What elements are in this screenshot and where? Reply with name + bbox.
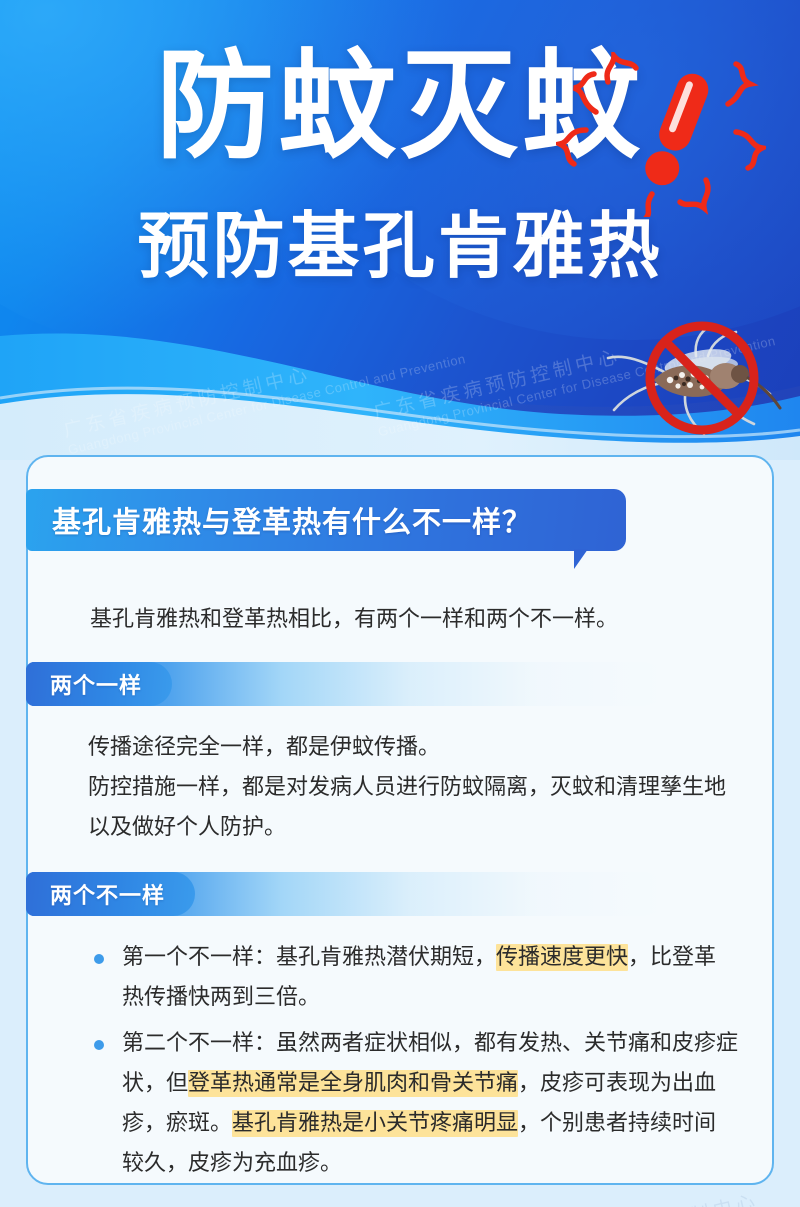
section-differences-pillbar: 两个不一样 — [26, 872, 666, 916]
section-similarities: 两个一样 传播途径完全一样，都是伊蚊传播。 防控措施一样，都是对发病人员进行防蚊… — [26, 662, 774, 848]
section-differences: 两个不一样 第一个不一样：基孔肯雅热潜伏期短，传播速度更快，比登革热传播快两到三… — [26, 872, 774, 1190]
content-card: 基孔肯雅热与登革热有什么不一样？ 基孔肯雅热和登革热相比，有两个一样和两个不一样… — [26, 455, 774, 1185]
highlighted-phrase: 基孔肯雅热是小关节疼痛明显 — [232, 1110, 518, 1137]
difference-item: 第二个不一样：虽然两者症状相似，都有发热、关节痛和皮疹症状，但登革热通常是全身肌… — [88, 1024, 738, 1184]
difference-list: 第一个不一样：基孔肯雅热潜伏期短，传播速度更快，比登革热传播快两到三倍。第二个不… — [88, 938, 738, 1184]
mosquito-prohibited-icon — [590, 312, 790, 452]
section-differences-body: 第一个不一样：基孔肯雅热潜伏期短，传播速度更快，比登革热传播快两到三倍。第二个不… — [26, 938, 774, 1184]
body-phrase: 第一个不一样：基孔肯雅热潜伏期短， — [122, 945, 496, 970]
similarity-paragraph: 防控措施一样，都是对发病人员进行防蚊隔离，灭蚊和清理孳生地以及做好个人防护。 — [88, 768, 738, 848]
section-differences-pill: 两个不一样 — [26, 872, 195, 916]
section-similarities-body: 传播途径完全一样，都是伊蚊传播。 防控措施一样，都是对发病人员进行防蚊隔离，灭蚊… — [26, 728, 774, 848]
card-intro-text: 基孔肯雅热和登革热相比，有两个一样和两个不一样。 — [90, 601, 730, 640]
section-similarities-pill: 两个一样 — [26, 662, 172, 706]
section-similarities-label: 两个一样 — [50, 668, 142, 700]
exclamation-burst-icon — [556, 52, 766, 217]
poster-root: 广东省疾病预防控制中心 Guangdong Provincial Center … — [0, 0, 800, 1207]
difference-item: 第一个不一样：基孔肯雅热潜伏期短，传播速度更快，比登革热传播快两到三倍。 — [88, 938, 738, 1018]
poster-subtitle: 预防基孔肯雅热 — [0, 205, 800, 288]
highlighted-phrase: 登革热通常是全身肌肉和骨关节痛 — [188, 1070, 518, 1097]
card-banner-title: 基孔肯雅热与登革热有什么不一样？ — [26, 499, 532, 541]
highlighted-phrase: 传播速度更快 — [496, 944, 628, 971]
hero-header: 广东省疾病预防控制中心 Guangdong Provincial Center … — [0, 0, 800, 460]
section-similarities-pillbar: 两个一样 — [26, 662, 666, 706]
similarity-paragraph: 传播途径完全一样，都是伊蚊传播。 — [88, 728, 738, 768]
card-banner: 基孔肯雅热与登革热有什么不一样？ — [26, 489, 626, 551]
section-differences-label: 两个不一样 — [50, 878, 165, 910]
